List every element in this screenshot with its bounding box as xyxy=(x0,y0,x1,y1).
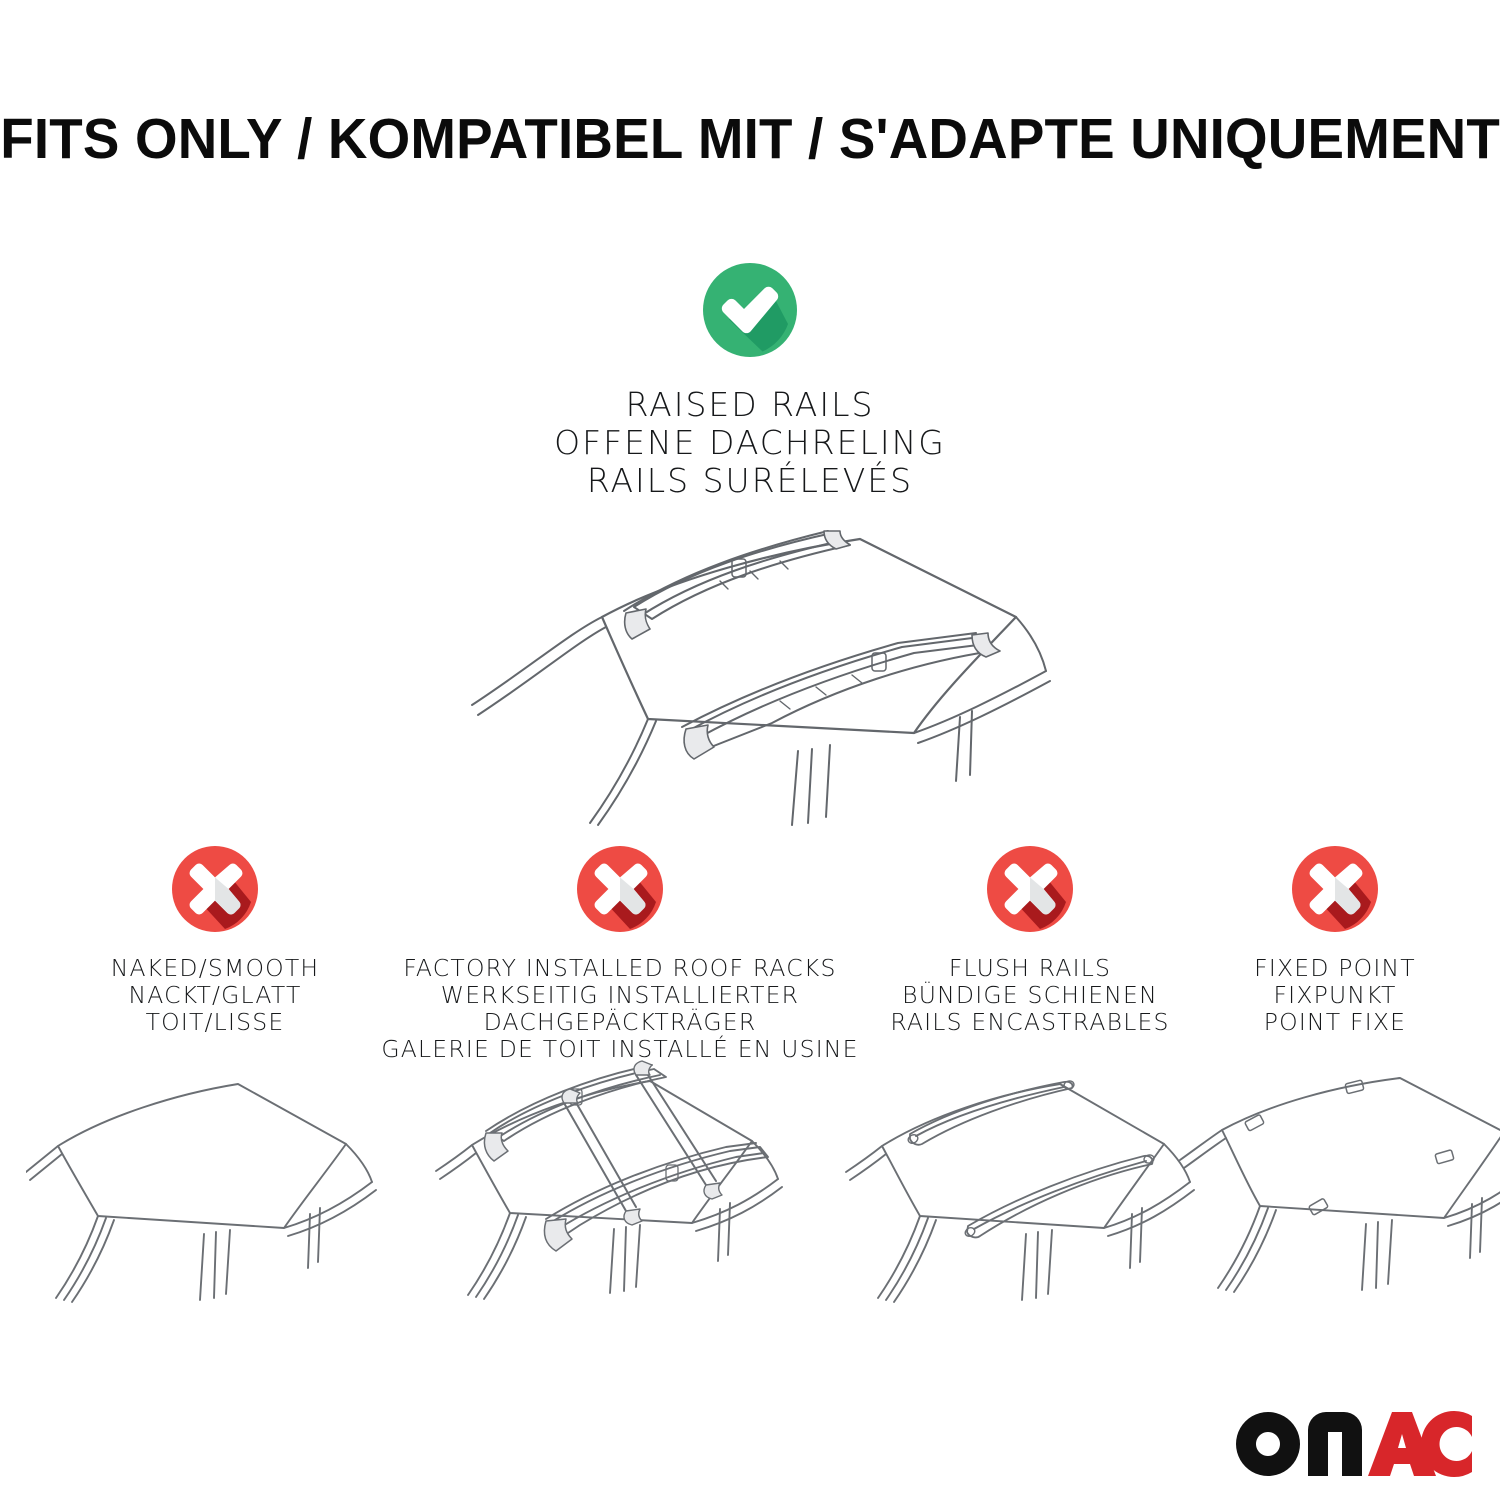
car-roof-factory-roof-racks-illustration xyxy=(430,1045,810,1295)
incompatible-item-naked-smooth: NAKED/SMOOTH NACKT/GLATT TOIT/LISSE xyxy=(40,845,390,1036)
incompatible-item-fixed-point: FIXED POINT FIXPUNKT POINT FIXE xyxy=(1190,845,1480,1036)
caption-line-fr: TOIT/LISSE xyxy=(111,1009,320,1036)
approved-caption-line-fr: RAILS SURÉLEVÉS xyxy=(554,462,946,500)
approved-caption-line-de: OFFENE DACHRELING xyxy=(554,424,946,462)
caption-line-fr: RAILS ENCASTRABLES xyxy=(890,1009,1169,1036)
incompatible-caption-naked-smooth: NAKED/SMOOTH NACKT/GLATT TOIT/LISSE xyxy=(111,955,320,1036)
incompatible-fitments-row: NAKED/SMOOTH NACKT/GLATT TOIT/LISSE xyxy=(0,845,1500,1485)
car-roof-naked-smooth-illustration xyxy=(26,1060,406,1310)
incompatible-item-flush-rails: FLUSH RAILS BÜNDIGE SCHIENEN RAILS ENCAS… xyxy=(855,845,1205,1036)
caption-line-de-2: DACHGEPÄCKTRÄGER xyxy=(381,1009,858,1036)
incompatible-item-factory-roof-racks: FACTORY INSTALLED ROOF RACKS WERKSEITIG … xyxy=(408,845,832,1063)
caption-line-en: FLUSH RAILS xyxy=(890,955,1169,982)
car-roof-raised-rails-illustration xyxy=(420,505,1100,835)
caption-line-de: FIXPUNKT xyxy=(1254,982,1416,1009)
x-circle-icon xyxy=(1291,845,1379,933)
approved-caption-line-en: RAISED RAILS xyxy=(554,386,946,424)
omac-logo: OMAC xyxy=(1232,1408,1476,1480)
x-circle-icon xyxy=(576,845,664,933)
incompatible-caption-fixed-point: FIXED POINT FIXPUNKT POINT FIXE xyxy=(1254,955,1416,1036)
page-title: FITS ONLY / KOMPATIBEL MIT / S'ADAPTE UN… xyxy=(0,106,1500,172)
caption-line-en: FACTORY INSTALLED ROOF RACKS xyxy=(381,955,858,982)
caption-line-de: NACKT/GLATT xyxy=(111,982,320,1009)
page-title-bar: FITS ONLY / KOMPATIBEL MIT / S'ADAPTE UN… xyxy=(0,104,1500,174)
approved-caption: RAISED RAILS OFFENE DACHRELING RAILS SUR… xyxy=(554,386,946,500)
caption-line-fr: POINT FIXE xyxy=(1254,1009,1416,1036)
check-circle-icon xyxy=(702,262,798,358)
caption-line-en: FIXED POINT xyxy=(1254,955,1416,982)
x-circle-icon xyxy=(986,845,1074,933)
car-roof-fixed-point-illustration xyxy=(1160,1060,1500,1310)
approved-fitment-block: RAISED RAILS OFFENE DACHRELING RAILS SUR… xyxy=(0,262,1500,500)
incompatible-caption-flush-rails: FLUSH RAILS BÜNDIGE SCHIENEN RAILS ENCAS… xyxy=(890,955,1169,1036)
x-circle-icon xyxy=(171,845,259,933)
caption-line-de-1: WERKSEITIG INSTALLIERTER xyxy=(381,982,858,1009)
caption-line-en: NAKED/SMOOTH xyxy=(111,955,320,982)
caption-line-de: BÜNDIGE SCHIENEN xyxy=(890,982,1169,1009)
